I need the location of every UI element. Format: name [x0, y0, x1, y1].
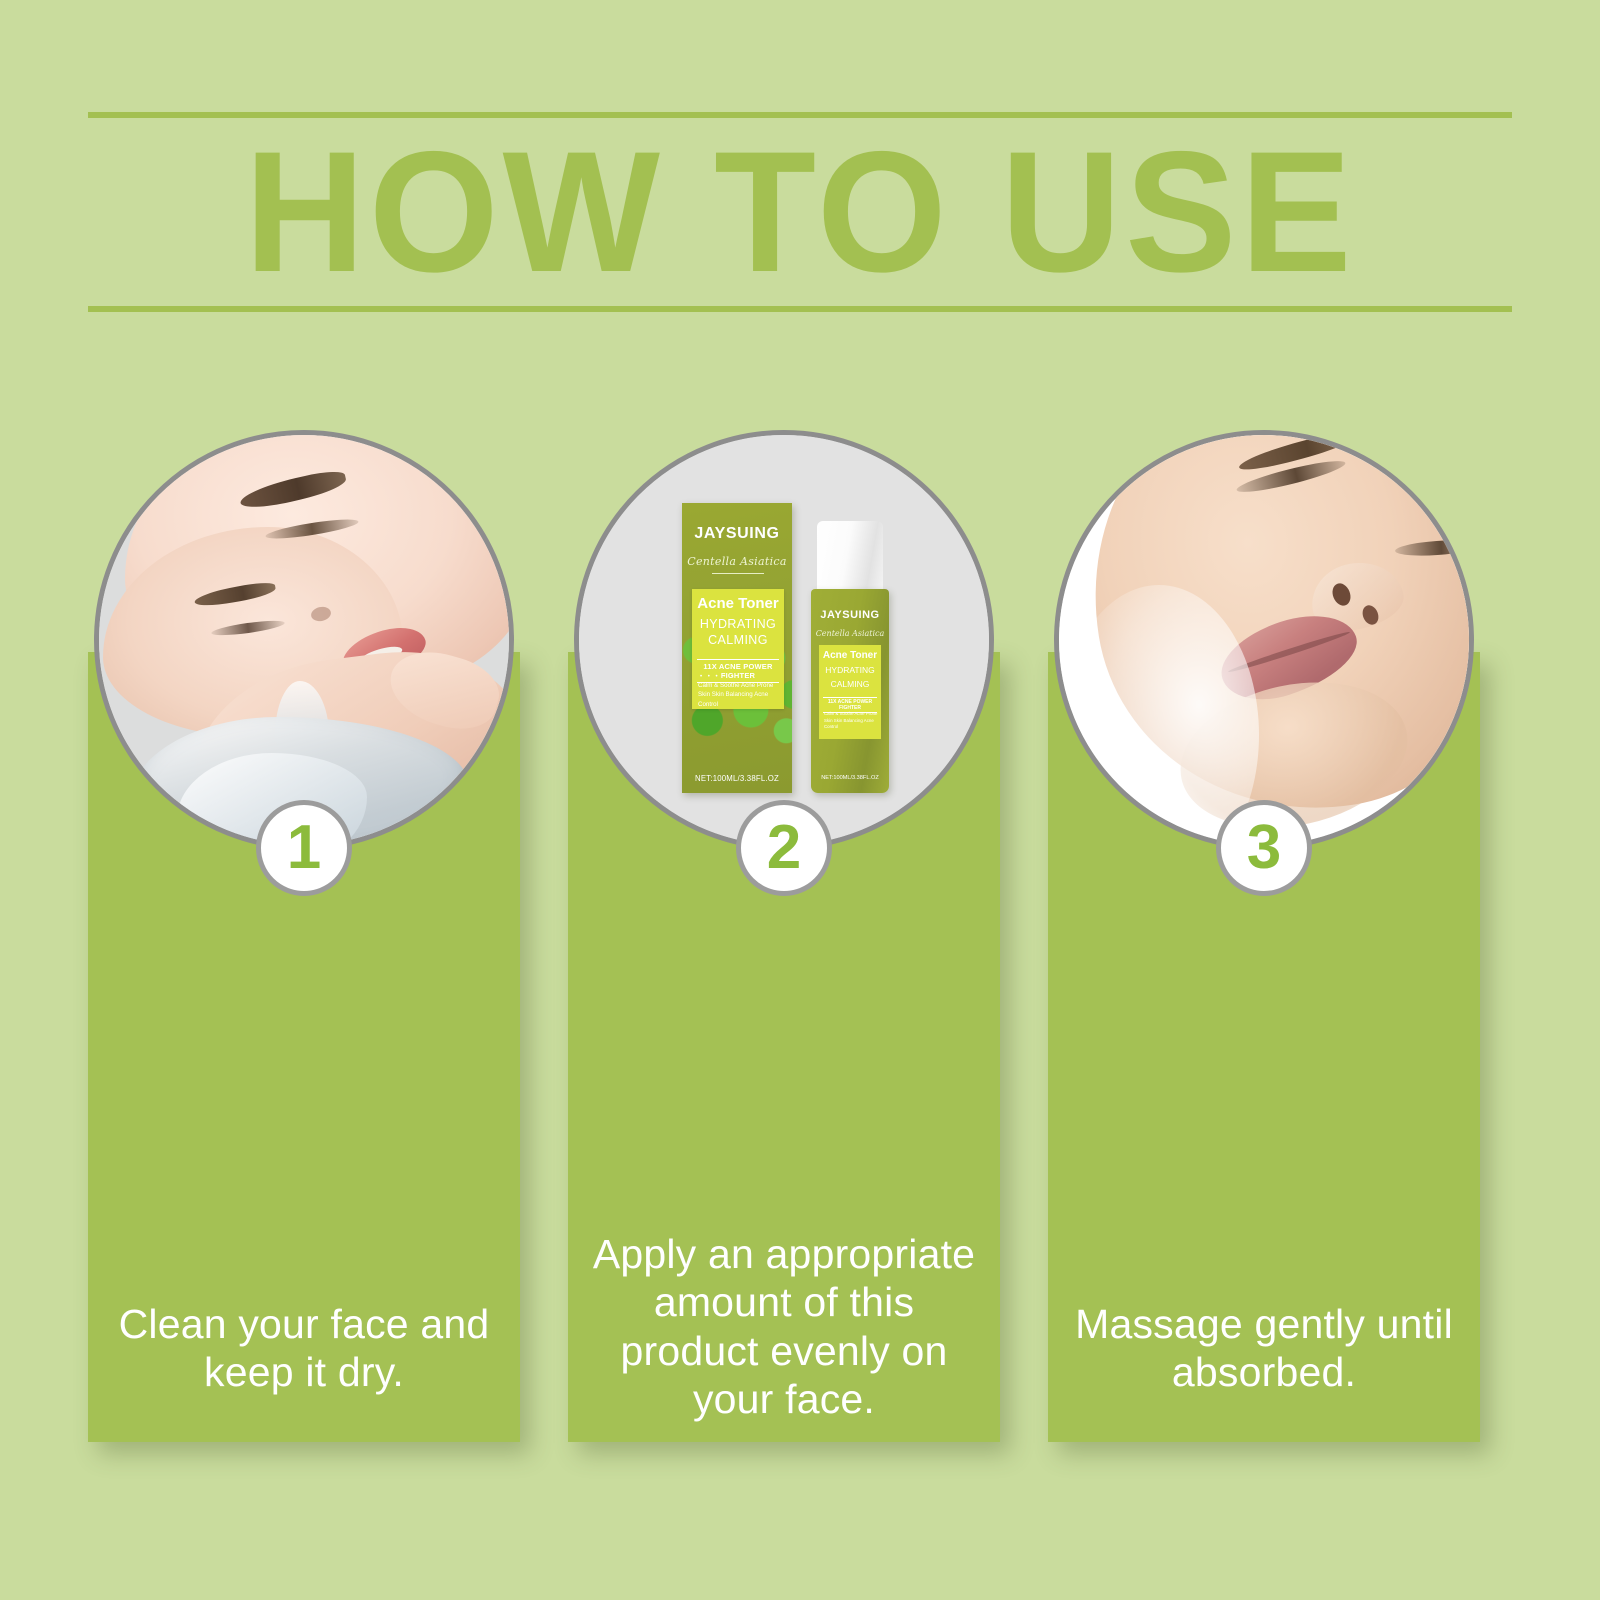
bottle-body: JAYSUING Centella Asiatica Acne Toner HY… — [811, 589, 889, 793]
bottle-benefit-1: HYDRATING — [819, 665, 881, 676]
bottle-body-copy: Calm & Soothe Acne Prone Skin Skin Balan… — [824, 711, 878, 731]
step-number-badge-1: 1 — [256, 800, 352, 896]
box-product-name: Acne Toner — [692, 595, 784, 612]
step-photo-3 — [1054, 430, 1474, 850]
step-caption-1: Clean your face and keep it dry. — [102, 1300, 506, 1397]
bottle-label-plate: Acne Toner HYDRATING CALMING 11X ACNE PO… — [819, 645, 881, 739]
box-label-plate: Acne Toner HYDRATING CALMING 11X ACNE PO… — [692, 589, 784, 709]
step-number-badge-3: 3 — [1216, 800, 1312, 896]
bottle-brand-name: JAYSUING — [811, 609, 889, 621]
step-card-3: Massage gently until absorbed. 3 — [1048, 430, 1480, 1442]
product-bottle: JAYSUING Centella Asiatica Acne Toner HY… — [811, 521, 889, 793]
step-caption-2: Apply an appropriate amount of this prod… — [582, 1230, 986, 1424]
how-to-use-infographic: HOW TO USE Clean your face and keep it d… — [0, 0, 1600, 1600]
box-benefit-2: CALMING — [692, 633, 784, 649]
step-number-badge-2: 2 — [736, 800, 832, 896]
bottle-benefit-2: CALMING — [819, 679, 881, 690]
box-net-content: NET:100ML/3.38FL.OZ — [682, 774, 792, 783]
bottle-cap — [817, 521, 883, 593]
box-dots: • • • • • — [700, 674, 735, 680]
step-photo-1 — [94, 430, 514, 850]
product-box: JAYSUING Centella Asiatica Acne Toner HY… — [682, 503, 792, 793]
bottle-net-content: NET:100ML/3.38FL.OZ — [811, 775, 889, 781]
step-photo-2: JAYSUING Centella Asiatica Acne Toner HY… — [574, 430, 994, 850]
step-caption-3: Massage gently until absorbed. — [1062, 1300, 1466, 1397]
box-brand-name: JAYSUING — [682, 525, 792, 543]
bottle-ingredient-name: Centella Asiatica — [811, 629, 889, 638]
box-ingredient-name: Centella Asiatica — [682, 555, 792, 568]
box-script-underline — [712, 573, 764, 574]
bottle-product-name: Acne Toner — [819, 650, 881, 661]
box-benefit-1: HYDRATING — [692, 617, 784, 633]
box-body-copy: Calm & Soothe Acne Prone Skin Skin Balan… — [698, 681, 780, 709]
step-card-2: Apply an appropriate amount of this prod… — [568, 430, 1000, 1442]
steps-container: Clean your face and keep it dry. 1 — [0, 0, 1600, 1600]
step-card-1: Clean your face and keep it dry. 1 — [88, 430, 520, 1442]
